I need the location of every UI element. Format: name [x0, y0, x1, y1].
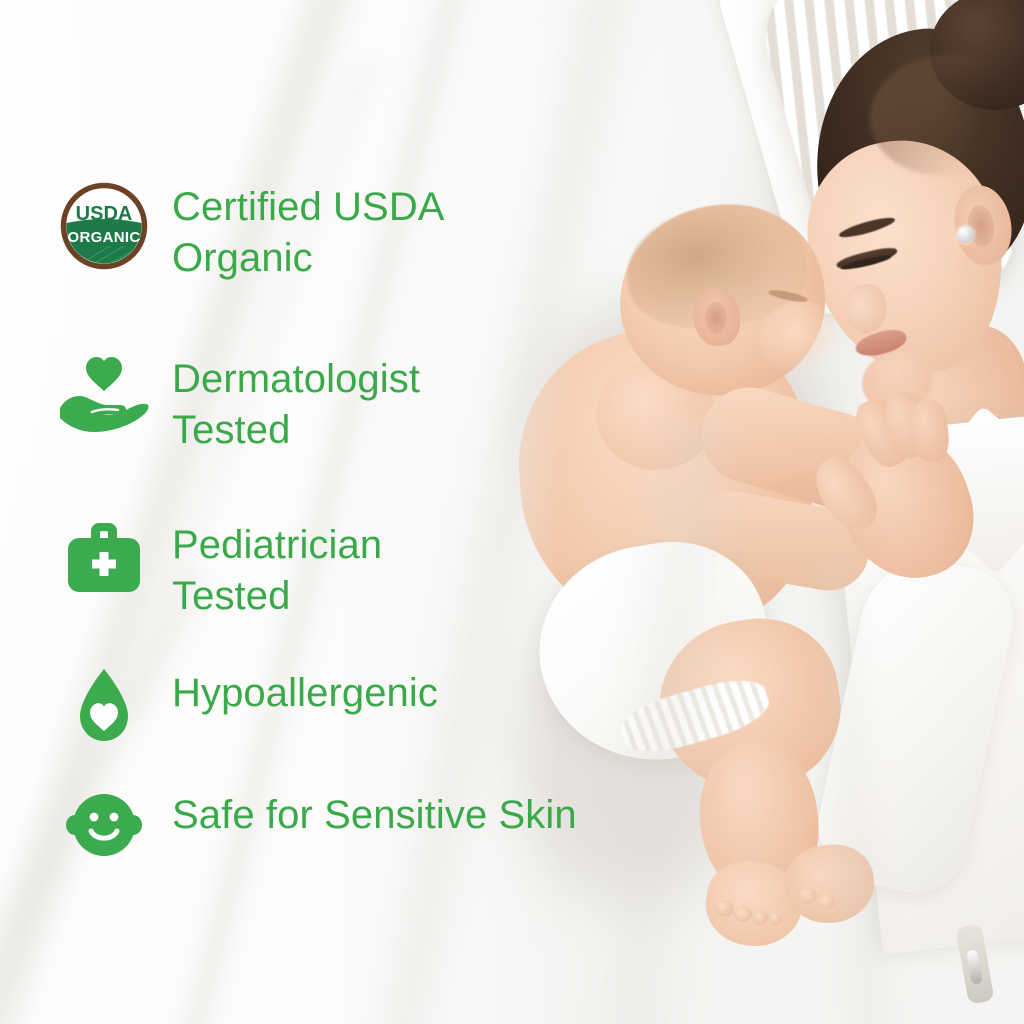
baby-ear-inner	[705, 302, 727, 334]
feature-item-hypoallergenic: Hypoallergenic	[58, 666, 438, 752]
usda-organic-seal-icon: USDA ORGANIC	[58, 180, 150, 272]
feature-label-dermatologist-tested: Dermatologist Tested	[172, 352, 420, 456]
baby-toe	[714, 900, 734, 917]
baby-toe	[752, 910, 768, 925]
baby-cheek	[760, 300, 838, 378]
feature-label-pediatrician-tested: Pediatrician Tested	[172, 518, 382, 622]
feature-list: USDA ORGANIC Certified USDA Organic Derm…	[0, 0, 700, 1024]
feature-label-certified-usda-organic: Certified USDA Organic	[172, 180, 445, 284]
usda-seal-top-text: USDA	[76, 203, 133, 225]
hand-holding-heart-icon	[58, 352, 150, 436]
droplet-heart-icon	[58, 666, 150, 752]
feature-item-dermatologist-tested: Dermatologist Tested	[58, 352, 420, 456]
baby-toe	[768, 912, 782, 925]
baby-toe	[798, 888, 817, 904]
baby-face-icon	[58, 788, 150, 862]
feature-label-safe-for-sensitive-skin: Safe for Sensitive Skin	[172, 788, 577, 841]
product-feature-infographic: USDA ORGANIC Certified USDA Organic Derm…	[0, 0, 1024, 1024]
mother-earring	[957, 226, 974, 243]
feature-item-safe-for-sensitive-skin: Safe for Sensitive Skin	[58, 788, 577, 862]
feature-label-hypoallergenic: Hypoallergenic	[172, 666, 438, 719]
usda-seal-bottom-text: ORGANIC	[68, 229, 141, 246]
feature-item-pediatrician-tested: Pediatrician Tested	[58, 518, 382, 622]
first-aid-kit-icon	[58, 518, 150, 598]
baby-toe	[734, 906, 752, 922]
feature-item-certified-usda-organic: USDA ORGANIC Certified USDA Organic	[58, 180, 445, 284]
